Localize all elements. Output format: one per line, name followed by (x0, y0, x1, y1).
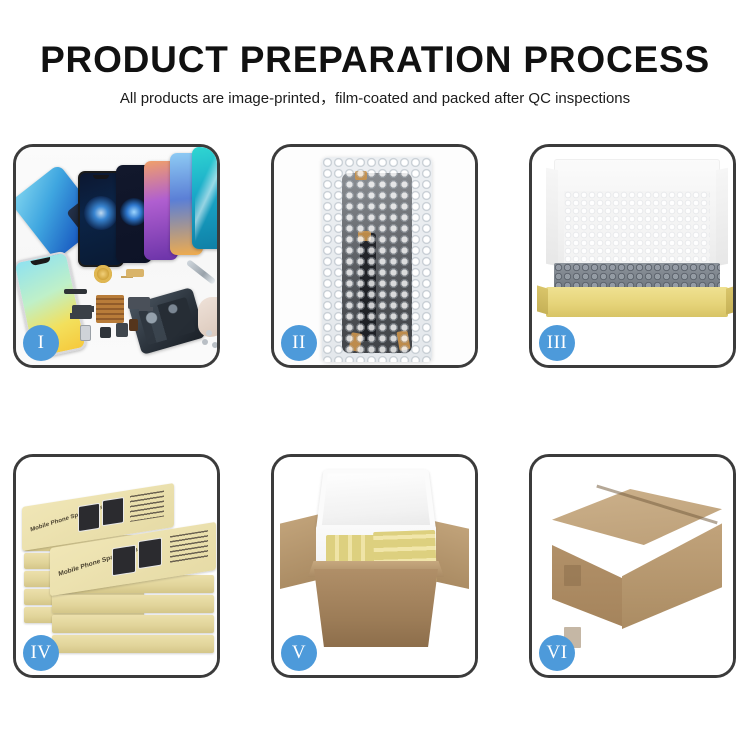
process-step-grid: I II III (13, 144, 737, 678)
box-spec-lines-back (130, 491, 164, 522)
step-badge-2: II (281, 325, 317, 361)
tape-piece-2 (358, 231, 371, 241)
stacked-box-r2 (52, 595, 214, 613)
flex-cable-part-1 (72, 305, 92, 319)
box-phone-thumb-2 (102, 497, 124, 526)
small-part-3 (116, 323, 128, 337)
speaker-bar-part (64, 289, 87, 294)
copper-coil-part (94, 265, 112, 283)
hand (198, 297, 217, 337)
sealed-carton-tape-1 (564, 565, 581, 586)
foam-liner (564, 191, 710, 263)
phone-teal (192, 147, 217, 249)
step-badge-4: IV (23, 635, 59, 671)
screws (202, 339, 208, 345)
carton-body (314, 569, 438, 647)
wrapped-screen (342, 173, 412, 353)
step-badge-3: III (539, 325, 575, 361)
infographic-page: PRODUCT PREPARATION PROCESS All products… (0, 0, 750, 750)
process-step-4[interactable]: Mobile Phone Spare Parts Mobile Phone Sp… (13, 454, 220, 678)
box-spec-lines-front (170, 530, 208, 564)
box-phone-thumb-1 (78, 503, 100, 532)
small-part-2 (100, 327, 111, 338)
step-badge-6: VI (539, 635, 575, 671)
flex-cable-part-2 (128, 297, 150, 309)
sealed-carton-left-face (552, 527, 624, 627)
stacked-box-r4 (52, 635, 214, 653)
step-badge-5: V (281, 635, 317, 671)
tape-piece-1 (355, 171, 367, 180)
stacked-box-r3 (52, 615, 214, 633)
flex-cable-part-3 (126, 269, 144, 277)
box-phone-thumb-4 (138, 537, 162, 569)
process-step-6[interactable]: VI (529, 454, 736, 678)
step-badge-1: I (23, 325, 59, 361)
process-step-3[interactable]: III (529, 144, 736, 368)
box-stack: Mobile Phone Spare Parts Mobile Phone Sp… (22, 479, 217, 657)
header: PRODUCT PREPARATION PROCESS All products… (0, 38, 750, 109)
wrapped-flex-cable (360, 233, 376, 341)
small-part-1 (80, 325, 91, 341)
foam-box-lid (316, 469, 436, 530)
page-subtitle: All products are image-printed，film-coat… (0, 89, 750, 109)
chip-grid-part (96, 295, 124, 323)
page-title: PRODUCT PREPARATION PROCESS (0, 38, 750, 82)
small-part-4 (129, 319, 138, 331)
process-step-1[interactable]: I (13, 144, 220, 368)
box-phone-thumb-3 (112, 545, 136, 577)
process-step-2[interactable]: II (271, 144, 478, 368)
yellow-box-base (546, 287, 728, 317)
process-step-5[interactable]: V (271, 454, 478, 678)
screwdriver-icon (186, 259, 216, 285)
